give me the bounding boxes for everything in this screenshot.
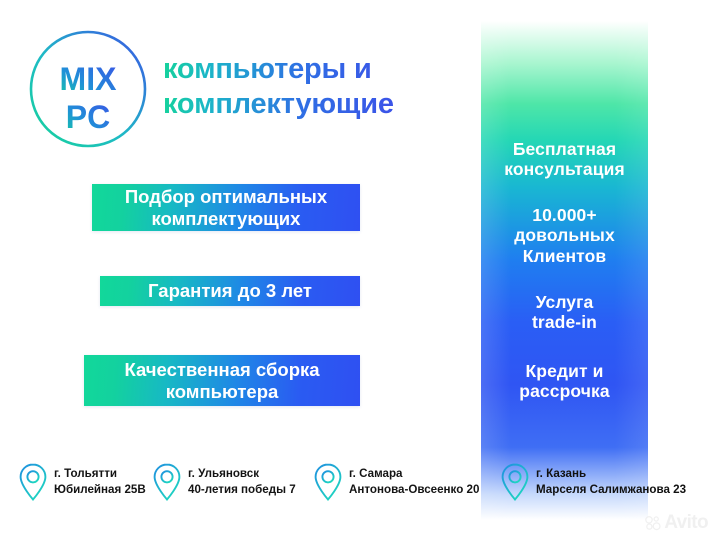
- benefit-item-consultation: Бесплатная консультация: [481, 139, 648, 180]
- location-city: г. Самара: [349, 466, 479, 482]
- benefit-line: Услуга: [536, 292, 594, 312]
- location-item-kazan: г. Казань Марселя Салимжанова 23: [500, 462, 686, 502]
- feature-line: Качественная сборка: [118, 359, 325, 381]
- map-pin-icon: [313, 462, 343, 502]
- benefit-line: Кредит и: [526, 361, 604, 381]
- page-title-line-2: комплектующие: [163, 87, 493, 122]
- location-item-ulyanovsk: г. Ульяновск 40-летия победы 7: [152, 462, 296, 502]
- benefits-panel: Бесплатная консультация 10.000+ довольны…: [481, 0, 648, 520]
- location-street: 40-летия победы 7: [188, 482, 296, 498]
- feature-line: комплектующих: [119, 208, 333, 230]
- location-text: г. Ульяновск 40-летия победы 7: [188, 466, 296, 498]
- benefit-line: консультация: [504, 159, 625, 179]
- location-street: Антонова-Овсеенко 20: [349, 482, 479, 498]
- location-city: г. Тольятти: [54, 466, 146, 482]
- page-title: компьютеры и комплектующие: [163, 52, 493, 123]
- feature-line: Гарантия до 3 лет: [142, 280, 318, 302]
- benefit-item-tradein: Услуга trade-in: [481, 292, 648, 333]
- location-text: г. Казань Марселя Салимжанова 23: [536, 466, 686, 498]
- logo-text-pc: PC: [66, 99, 110, 135]
- map-pin-icon: [18, 462, 48, 502]
- avito-logo-icon: [645, 515, 661, 531]
- map-pin-icon: [152, 462, 182, 502]
- feature-bar-warranty: Гарантия до 3 лет: [100, 276, 360, 306]
- locations-bar: г. Тольятти Юбилейная 25В г. Ульяновск 4…: [0, 462, 720, 512]
- page-title-line-1: компьютеры и: [163, 52, 493, 87]
- feature-line: компьютера: [118, 381, 325, 403]
- feature-bar-assembly: Качественная сборка компьютера: [84, 355, 360, 406]
- location-text: г. Тольятти Юбилейная 25В: [54, 466, 146, 498]
- benefit-line: 10.000+: [532, 205, 596, 225]
- benefit-line: довольных: [514, 225, 615, 245]
- feature-line: Подбор оптимальных: [119, 186, 333, 208]
- benefit-item-credit: Кредит и рассрочка: [481, 361, 648, 402]
- feature-bar-components: Подбор оптимальных комплектующих: [92, 184, 360, 231]
- logo-icon: MIX PC: [27, 28, 149, 150]
- location-text: г. Самара Антонова-Овсеенко 20: [349, 466, 479, 498]
- benefit-line: рассрочка: [519, 381, 609, 401]
- benefit-line: Бесплатная: [513, 139, 616, 159]
- avito-label: Avito: [664, 513, 708, 532]
- benefit-item-clients: 10.000+ довольных Клиентов: [481, 205, 648, 266]
- location-street: Юбилейная 25В: [54, 482, 146, 498]
- benefit-line: trade-in: [532, 312, 597, 332]
- location-item-samara: г. Самара Антонова-Овсеенко 20: [313, 462, 479, 502]
- benefit-line: Клиентов: [523, 246, 606, 266]
- location-city: г. Казань: [536, 466, 686, 482]
- poster-canvas: Бесплатная консультация 10.000+ довольны…: [0, 0, 720, 540]
- location-street: Марселя Салимжанова 23: [536, 482, 686, 498]
- location-city: г. Ульяновск: [188, 466, 296, 482]
- map-pin-icon: [500, 462, 530, 502]
- avito-watermark: Avito: [645, 513, 708, 532]
- location-item-tolyatti: г. Тольятти Юбилейная 25В: [18, 462, 146, 502]
- logo-text-mix: MIX: [60, 61, 118, 97]
- mixpc-logo: MIX PC: [27, 28, 149, 150]
